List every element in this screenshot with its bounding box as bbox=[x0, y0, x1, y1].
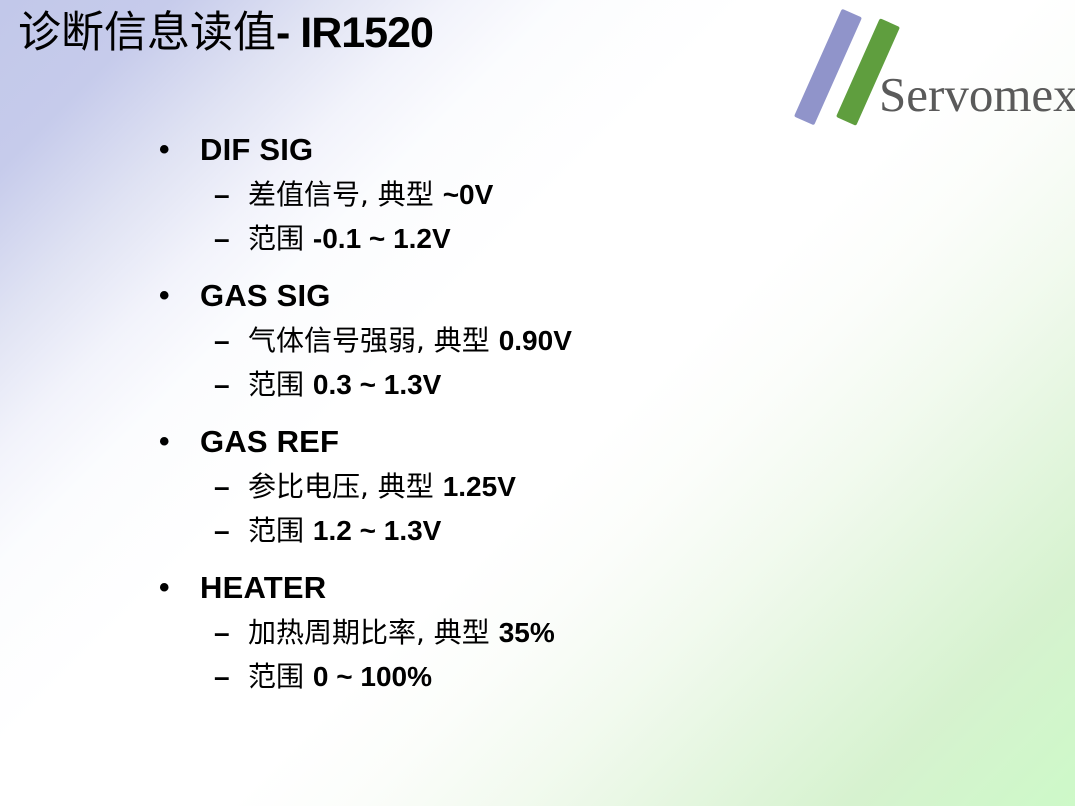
sub-bullet-row: – 范围 -0.1 ~ 1.2V bbox=[0, 218, 1075, 262]
dash-icon: – bbox=[214, 174, 230, 216]
sub-bullet-label: 范围 0 ~ 100% bbox=[248, 656, 432, 698]
sub-bullet-label: 范围 1.2 ~ 1.3V bbox=[248, 510, 441, 552]
dash-icon: – bbox=[214, 510, 230, 552]
sub-bullet-row: – 范围 0 ~ 100% bbox=[0, 656, 1075, 700]
bullet-group: • DIF SIG – 差值信号, 典型 ~0V – 范围 -0.1 ~ 1.2… bbox=[0, 128, 1075, 274]
dash-icon: – bbox=[214, 364, 230, 406]
dash-icon: – bbox=[214, 466, 230, 508]
sub-bullet-value: 0 ~ 100% bbox=[313, 661, 432, 692]
bullet-heading-label: HEATER bbox=[200, 566, 326, 610]
sub-bullet-chinese: 参比电压, 典型 bbox=[248, 470, 443, 503]
sub-bullet-label: 参比电压, 典型 1.25V bbox=[248, 466, 516, 508]
sub-bullet-chinese: 差值信号, 典型 bbox=[248, 178, 443, 211]
bullet-list: • DIF SIG – 差值信号, 典型 ~0V – 范围 -0.1 ~ 1.2… bbox=[0, 128, 1075, 712]
servomex-logo: Servomex bbox=[795, 14, 1067, 122]
sub-bullet-label: 差值信号, 典型 ~0V bbox=[248, 174, 493, 216]
sub-bullet-row: – 加热周期比率, 典型 35% bbox=[0, 612, 1075, 656]
bullet-heading-label: GAS REF bbox=[200, 420, 339, 464]
bullet-dot-icon: • bbox=[159, 274, 170, 318]
logo-wordmark: Servomex bbox=[879, 70, 1075, 120]
slide-canvas: 诊断信息读值- IR1520 Servomex • DIF SIG – 差值信号… bbox=[0, 0, 1075, 806]
page-title-model: - IR1520 bbox=[276, 9, 433, 57]
sub-bullet-row: – 差值信号, 典型 ~0V bbox=[0, 174, 1075, 218]
sub-bullet-label: 气体信号强弱, 典型 0.90V bbox=[248, 320, 572, 362]
sub-bullet-row: – 气体信号强弱, 典型 0.90V bbox=[0, 320, 1075, 364]
bullet-heading-row: • DIF SIG bbox=[0, 128, 1075, 174]
bullet-group: • GAS SIG – 气体信号强弱, 典型 0.90V – 范围 0.3 ~ … bbox=[0, 274, 1075, 420]
sub-bullet-label: 加热周期比率, 典型 35% bbox=[248, 612, 555, 654]
page-title-chinese: 诊断信息读值 bbox=[18, 8, 276, 58]
page-title: 诊断信息读值- IR1520 bbox=[18, 6, 433, 60]
sub-bullet-value: 0.90V bbox=[499, 325, 572, 356]
bullet-heading-row: • GAS SIG bbox=[0, 274, 1075, 320]
bullet-dot-icon: • bbox=[159, 128, 170, 172]
bullet-dot-icon: • bbox=[159, 420, 170, 464]
sub-bullet-row: – 范围 0.3 ~ 1.3V bbox=[0, 364, 1075, 408]
sub-bullet-value: 1.2 ~ 1.3V bbox=[313, 515, 441, 546]
sub-bullet-chinese: 加热周期比率, 典型 bbox=[248, 616, 499, 649]
sub-bullet-chinese: 气体信号强弱, 典型 bbox=[248, 324, 499, 357]
bullet-heading-row: • GAS REF bbox=[0, 420, 1075, 466]
sub-bullet-row: – 范围 1.2 ~ 1.3V bbox=[0, 510, 1075, 554]
sub-bullet-value: 35% bbox=[499, 617, 555, 648]
sub-bullet-value: ~0V bbox=[443, 179, 494, 210]
bullet-heading-label: GAS SIG bbox=[200, 274, 331, 318]
dash-icon: – bbox=[214, 218, 230, 260]
dash-icon: – bbox=[214, 320, 230, 362]
sub-bullet-chinese: 范围 bbox=[248, 222, 313, 255]
sub-bullet-row: – 参比电压, 典型 1.25V bbox=[0, 466, 1075, 510]
sub-bullet-chinese: 范围 bbox=[248, 368, 313, 401]
sub-bullet-chinese: 范围 bbox=[248, 514, 313, 547]
sub-bullet-value: 0.3 ~ 1.3V bbox=[313, 369, 441, 400]
bullet-group: • GAS REF – 参比电压, 典型 1.25V – 范围 1.2 ~ 1.… bbox=[0, 420, 1075, 566]
sub-bullet-chinese: 范围 bbox=[248, 660, 313, 693]
sub-bullet-label: 范围 0.3 ~ 1.3V bbox=[248, 364, 441, 406]
bullet-heading-row: • HEATER bbox=[0, 566, 1075, 612]
sub-bullet-value: 1.25V bbox=[443, 471, 516, 502]
sub-bullet-value: -0.1 ~ 1.2V bbox=[313, 223, 451, 254]
bullet-heading-label: DIF SIG bbox=[200, 128, 313, 172]
dash-icon: – bbox=[214, 612, 230, 654]
bullet-group: • HEATER – 加热周期比率, 典型 35% – 范围 0 ~ 100% bbox=[0, 566, 1075, 712]
bullet-dot-icon: • bbox=[159, 566, 170, 610]
dash-icon: – bbox=[214, 656, 230, 698]
sub-bullet-label: 范围 -0.1 ~ 1.2V bbox=[248, 218, 451, 260]
